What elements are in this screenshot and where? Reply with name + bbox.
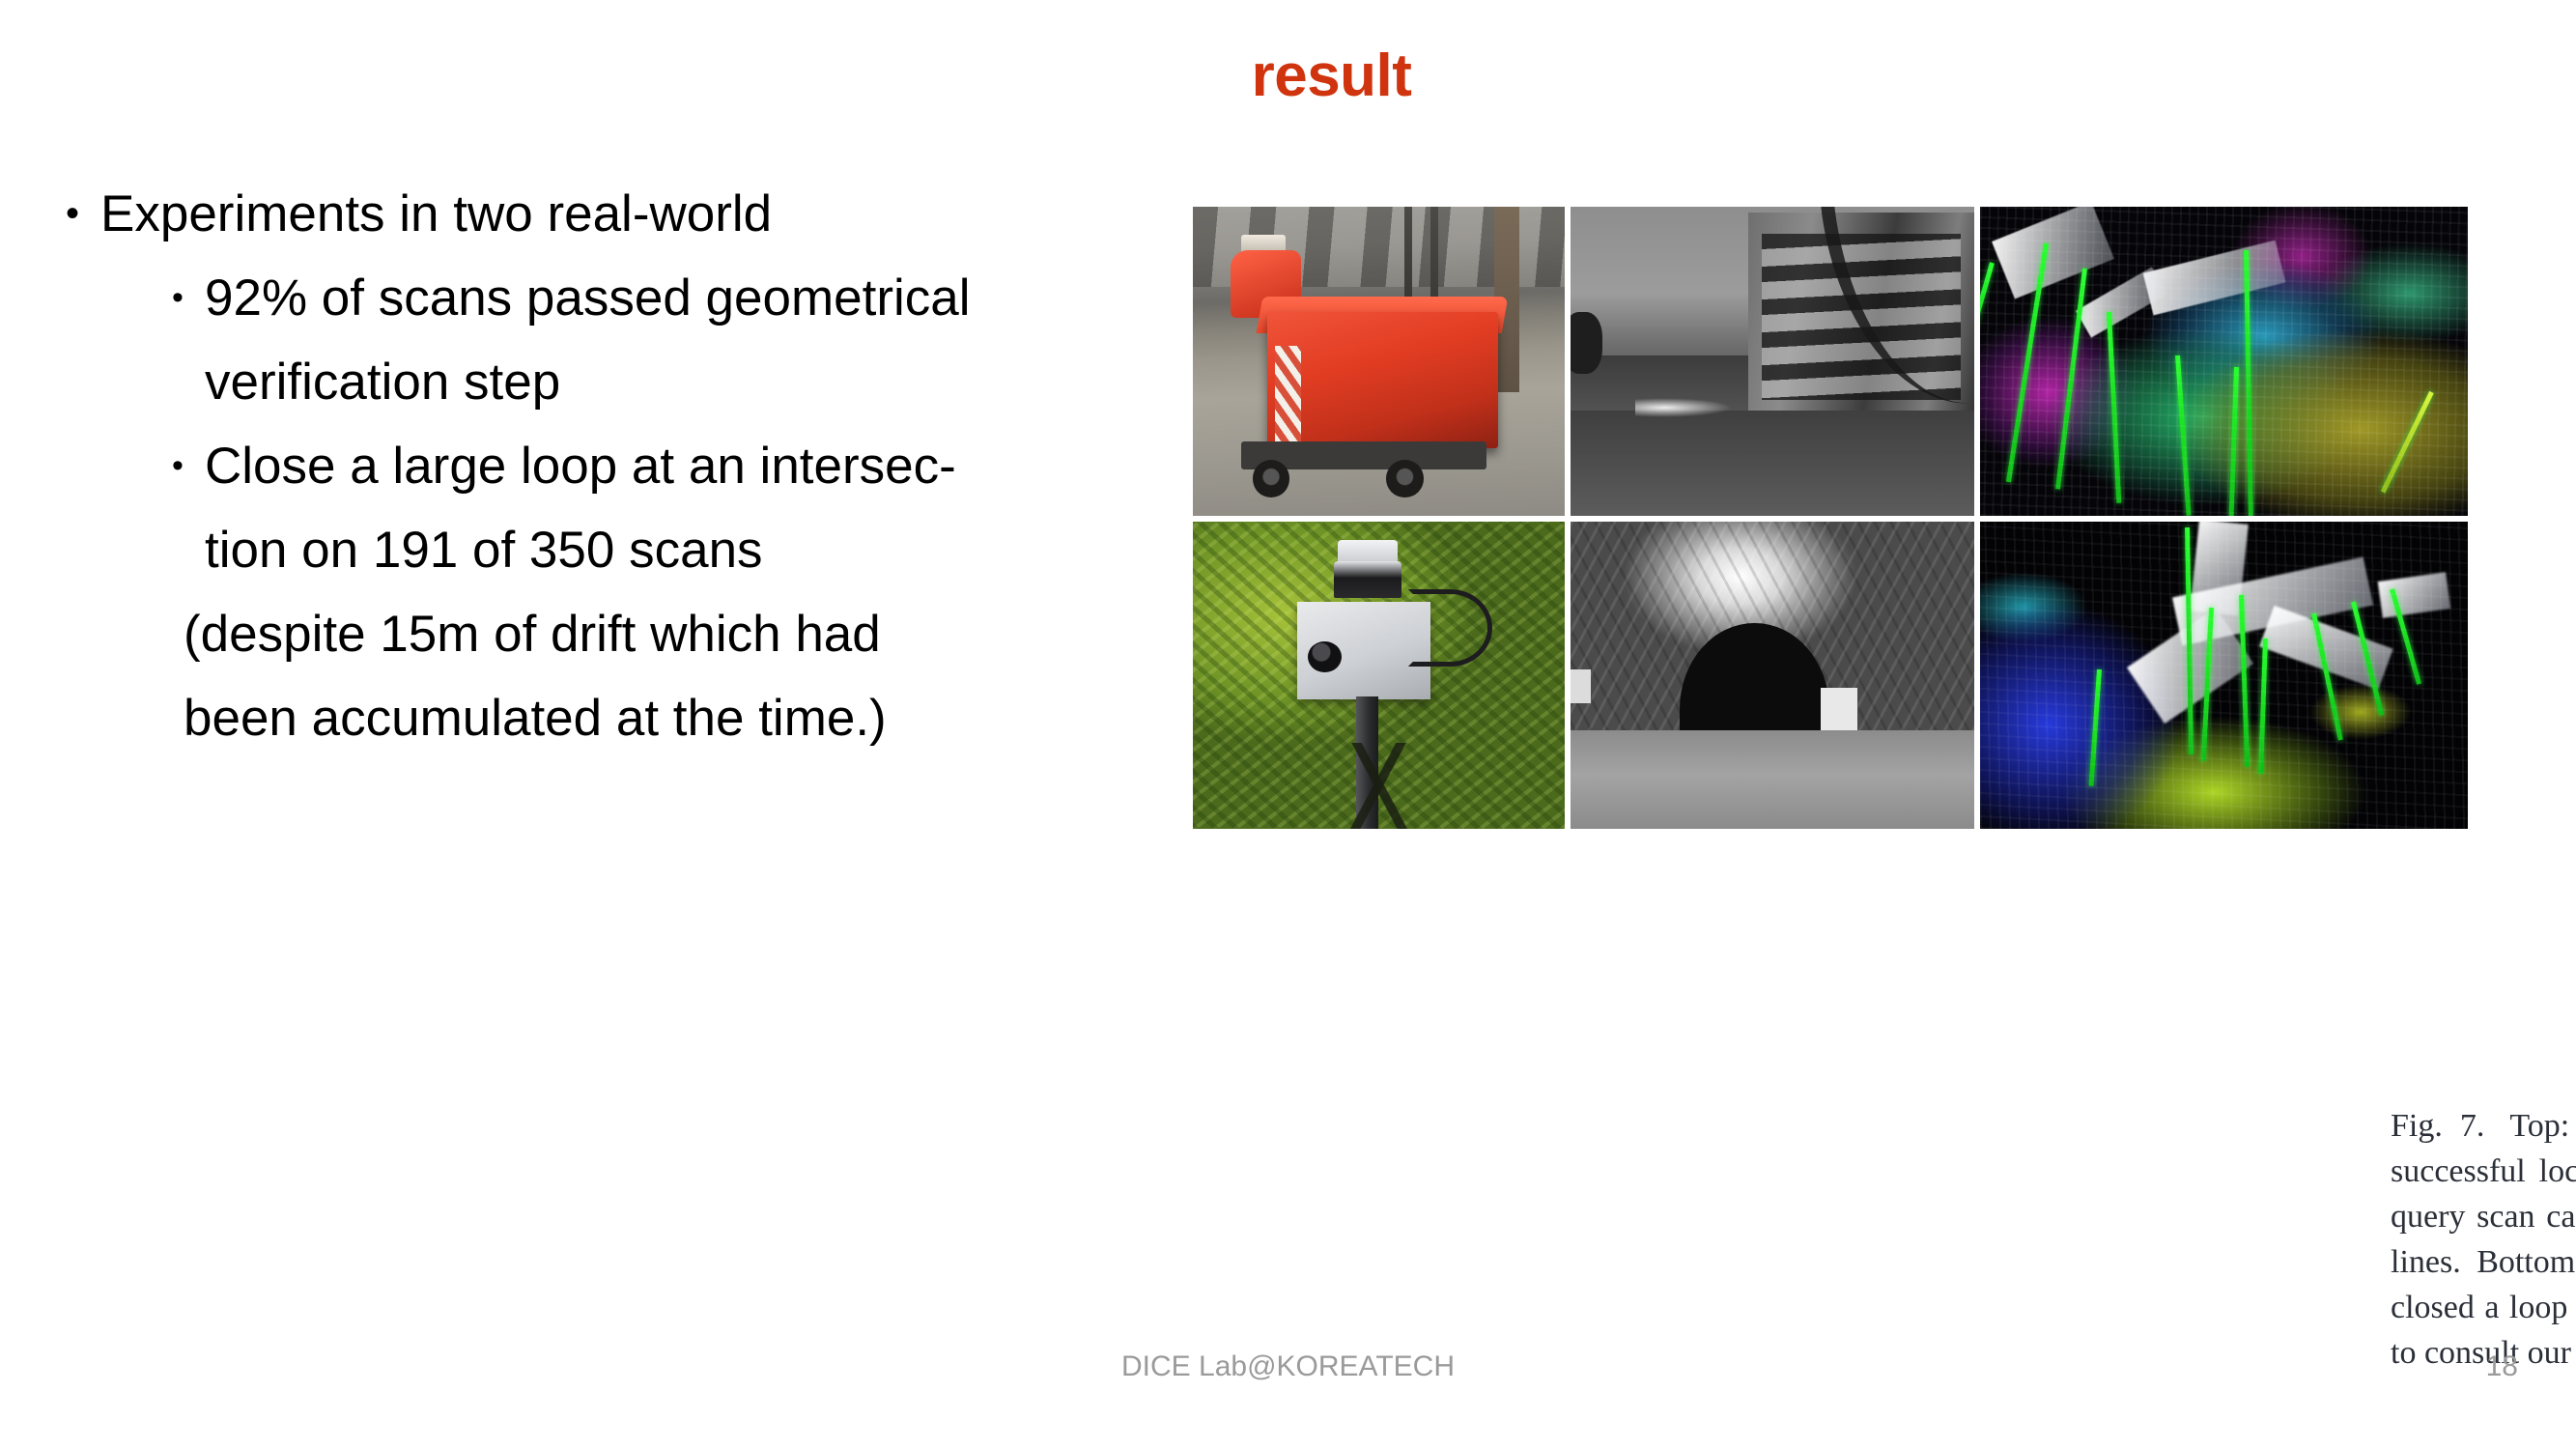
tunnel-panel-decor [1571,669,1591,703]
list-item: • 92% of scans passed geometrical [58,256,1188,340]
lidar-drum-decor [1334,561,1401,598]
list-item: • Close a large loop at an intersec- [58,424,1188,508]
query-scan-decor [2127,608,2253,724]
list-item-label: been accumulated at the time.) [184,676,887,760]
list-item-label: Close a large loop at an intersec- [205,424,956,508]
street-lights-decor [1635,398,1732,416]
page-number: 18 [2486,1350,2518,1383]
figure-caption-label: Fig. 7. [2391,1108,2484,1144]
list-item-continuation: (despite 15m of drift which had [58,592,1188,676]
robot-wheel-decor [1253,460,1290,497]
matched-segment-lines [1980,207,2468,516]
street-pole-decor [1404,207,1412,299]
bullet-marker-icon: • [172,424,205,508]
bullet-list: • Experiments in two real-world • 92% of… [58,172,1188,760]
bullet-marker-icon: • [172,256,205,340]
figure-image-grid [1193,207,2468,835]
figure-panel-suburban-pointcloud [1980,207,2468,516]
figure-panel-mine-pointcloud [1980,522,2468,829]
bullet-marker-icon: • [66,172,100,256]
list-item-continuation: verification step [58,340,1188,424]
road-decor [1571,411,1974,516]
tripod-legs-decor [1275,743,1484,829]
figure-panel-robot-photo [1193,207,1565,516]
list-item-label: Experiments in two real-world [100,172,772,256]
figure-panel-mine-tunnel-photo [1571,522,1974,829]
tunnel-panel-decor [1821,688,1857,731]
query-scan-decor [2259,606,2393,690]
list-item-continuation: been accumulated at the time.) [58,676,1188,760]
figure-panel-lidar-stick-photo [1193,522,1565,829]
query-scan-decor [2076,268,2167,338]
matched-segment-lines [1980,522,2468,829]
list-item-label: 92% of scans passed geometrical [205,256,971,340]
tunnel-floor-decor [1571,730,1974,829]
list-item-continuation: tion on 191 of 350 scans [58,508,1188,592]
list-item-label: (despite 15m of drift which had [184,592,881,676]
list-item-label: verification step [205,340,560,424]
page-title: result [0,46,2576,106]
query-scan-decor [2190,522,2248,616]
footer-label: DICE Lab@KOREATECH [0,1350,2576,1383]
figure-caption: Fig. 7.Top: traversing a suburban area u… [2391,1103,2576,1376]
query-scan-decor [2142,241,2285,316]
query-scan-decor [2172,557,2373,646]
tree-decor [1571,312,1602,374]
figure-7: Fig. 7.Top: traversing a suburban area u… [1193,207,2468,835]
figure-panel-suburban-photo [1571,207,1974,516]
robot-hazard-stripe-decor [1275,346,1301,444]
robot-wheel-decor [1386,460,1424,497]
list-item: • Experiments in two real-world [58,172,1188,256]
robot-body-decor [1267,312,1498,448]
query-scan-decor [1992,207,2114,298]
lidar-cable-decor [1408,589,1492,667]
lidar-lens-decor [1308,641,1342,672]
list-item-label: tion on 191 of 350 scans [205,508,763,592]
query-scan-decor [2378,573,2450,619]
